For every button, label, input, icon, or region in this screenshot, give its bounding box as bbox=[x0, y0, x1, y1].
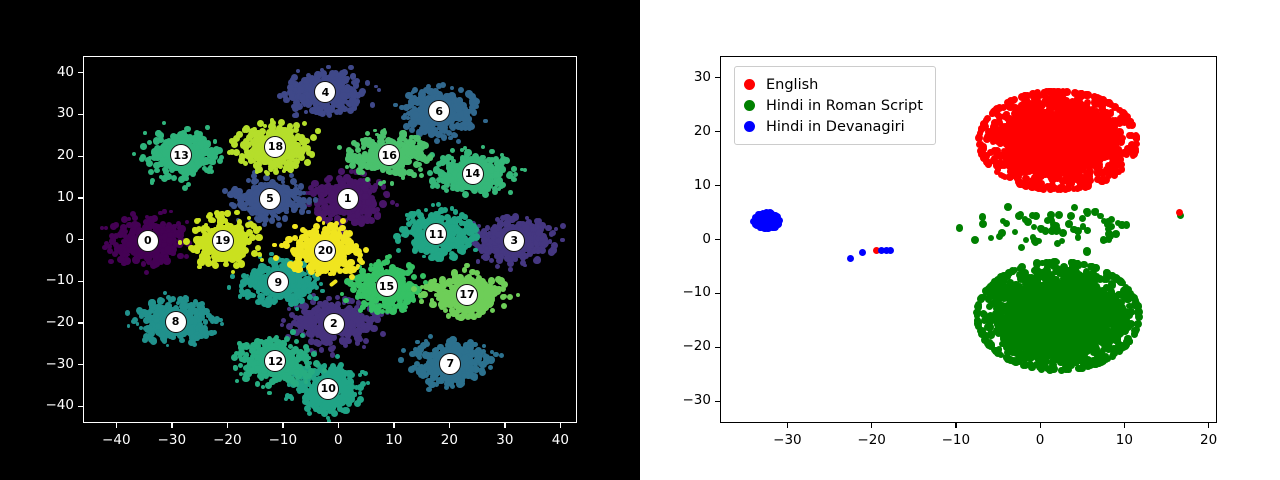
cluster-label-17[interactable]: 17 bbox=[456, 284, 478, 306]
right-x-tick-mark bbox=[871, 423, 872, 428]
right-x-tick-label: 20 bbox=[1179, 432, 1239, 448]
legend-entry-1[interactable]: Hindi in Roman Script bbox=[744, 95, 923, 116]
left-x-tick-mark bbox=[116, 423, 117, 428]
left-x-tick-label: 20 bbox=[419, 432, 479, 448]
right-x-tick-label: −30 bbox=[757, 432, 817, 448]
cluster-label-0[interactable]: 0 bbox=[137, 230, 159, 252]
left-y-tick-label: −30 bbox=[46, 356, 75, 372]
cluster-label-13[interactable]: 13 bbox=[170, 144, 192, 166]
left-x-tick-label: 30 bbox=[475, 432, 535, 448]
right-x-tick-mark bbox=[1040, 423, 1041, 428]
right-x-tick-label: 10 bbox=[1094, 432, 1154, 448]
right-x-tick-mark bbox=[1124, 423, 1125, 428]
left-y-tick-label: 10 bbox=[57, 189, 74, 205]
right-y-tick-label: 30 bbox=[694, 69, 711, 85]
legend: EnglishHindi in Roman ScriptHindi in Dev… bbox=[734, 66, 936, 145]
right-x-tick-mark bbox=[1208, 423, 1209, 428]
right-x-tick-label: 0 bbox=[1010, 432, 1070, 448]
cluster-label-15[interactable]: 15 bbox=[376, 275, 398, 297]
left-x-tick-mark bbox=[171, 423, 172, 428]
figure-canvas: −40−30−20−10010203040 −40−30−20−10010203… bbox=[0, 0, 1280, 480]
left-x-tick-label: −20 bbox=[197, 432, 257, 448]
left-x-tick-label: −30 bbox=[142, 432, 202, 448]
left-y-tick-label: 40 bbox=[57, 64, 74, 80]
left-y-tick-label: −40 bbox=[46, 397, 75, 413]
right-y-tick-label: −10 bbox=[683, 284, 712, 300]
left-x-tick-label: 10 bbox=[364, 432, 424, 448]
legend-entry-2[interactable]: Hindi in Devanagiri bbox=[744, 116, 923, 137]
cluster-label-3[interactable]: 3 bbox=[503, 230, 525, 252]
left-x-tick-mark bbox=[282, 423, 283, 428]
left-x-tick-mark bbox=[449, 423, 450, 428]
cluster-label-14[interactable]: 14 bbox=[462, 163, 484, 185]
cluster-label-2[interactable]: 2 bbox=[323, 313, 345, 335]
right-scatter-panel: −30−20−100102030 −30−20−1001020 EnglishH… bbox=[640, 0, 1280, 480]
left-x-tick-mark bbox=[560, 423, 561, 428]
left-x-tick-label: 40 bbox=[530, 432, 590, 448]
legend-marker-icon bbox=[744, 100, 755, 111]
right-y-tick-label: 0 bbox=[702, 231, 711, 247]
cluster-label-19[interactable]: 19 bbox=[212, 230, 234, 252]
cluster-label-1[interactable]: 1 bbox=[337, 188, 359, 210]
cluster-label-5[interactable]: 5 bbox=[259, 188, 281, 210]
right-x-tick-label: −10 bbox=[926, 432, 986, 448]
left-plot-area: 01234567891011121314151617181920 bbox=[83, 56, 577, 423]
left-x-tick-mark bbox=[504, 423, 505, 428]
left-y-tick-label: −20 bbox=[46, 314, 75, 330]
cluster-label-7[interactable]: 7 bbox=[439, 353, 461, 375]
legend-entry-0[interactable]: English bbox=[744, 74, 923, 95]
left-y-tick-label: 20 bbox=[57, 147, 74, 163]
left-x-tick-mark bbox=[338, 423, 339, 428]
left-y-tick-label: 30 bbox=[57, 105, 74, 121]
right-y-tick-label: −20 bbox=[683, 338, 712, 354]
right-y-tick-label: 20 bbox=[694, 123, 711, 139]
cluster-label-8[interactable]: 8 bbox=[165, 311, 187, 333]
right-x-tick-mark bbox=[787, 423, 788, 428]
left-x-tick-label: 0 bbox=[308, 432, 368, 448]
left-x-tick-mark bbox=[393, 423, 394, 428]
cluster-label-18[interactable]: 18 bbox=[264, 136, 286, 158]
left-x-tick-label: −40 bbox=[86, 432, 146, 448]
legend-label: Hindi in Devanagiri bbox=[766, 119, 905, 135]
left-y-tick-label: −10 bbox=[46, 272, 75, 288]
right-x-tick-mark bbox=[955, 423, 956, 428]
right-plot-area: EnglishHindi in Roman ScriptHindi in Dev… bbox=[720, 56, 1217, 423]
legend-label: Hindi in Roman Script bbox=[766, 98, 923, 114]
legend-marker-icon bbox=[744, 121, 755, 132]
right-y-tick-label: 10 bbox=[694, 177, 711, 193]
right-y-tick-label: −30 bbox=[683, 392, 712, 408]
cluster-label-10[interactable]: 10 bbox=[317, 378, 339, 400]
legend-label: English bbox=[766, 77, 818, 93]
left-x-tick-mark bbox=[227, 423, 228, 428]
right-x-tick-label: −20 bbox=[842, 432, 902, 448]
legend-marker-icon bbox=[744, 79, 755, 90]
left-scatter-panel: −40−30−20−10010203040 −40−30−20−10010203… bbox=[0, 0, 640, 480]
left-x-tick-label: −10 bbox=[253, 432, 313, 448]
left-y-tick-label: 0 bbox=[65, 231, 74, 247]
